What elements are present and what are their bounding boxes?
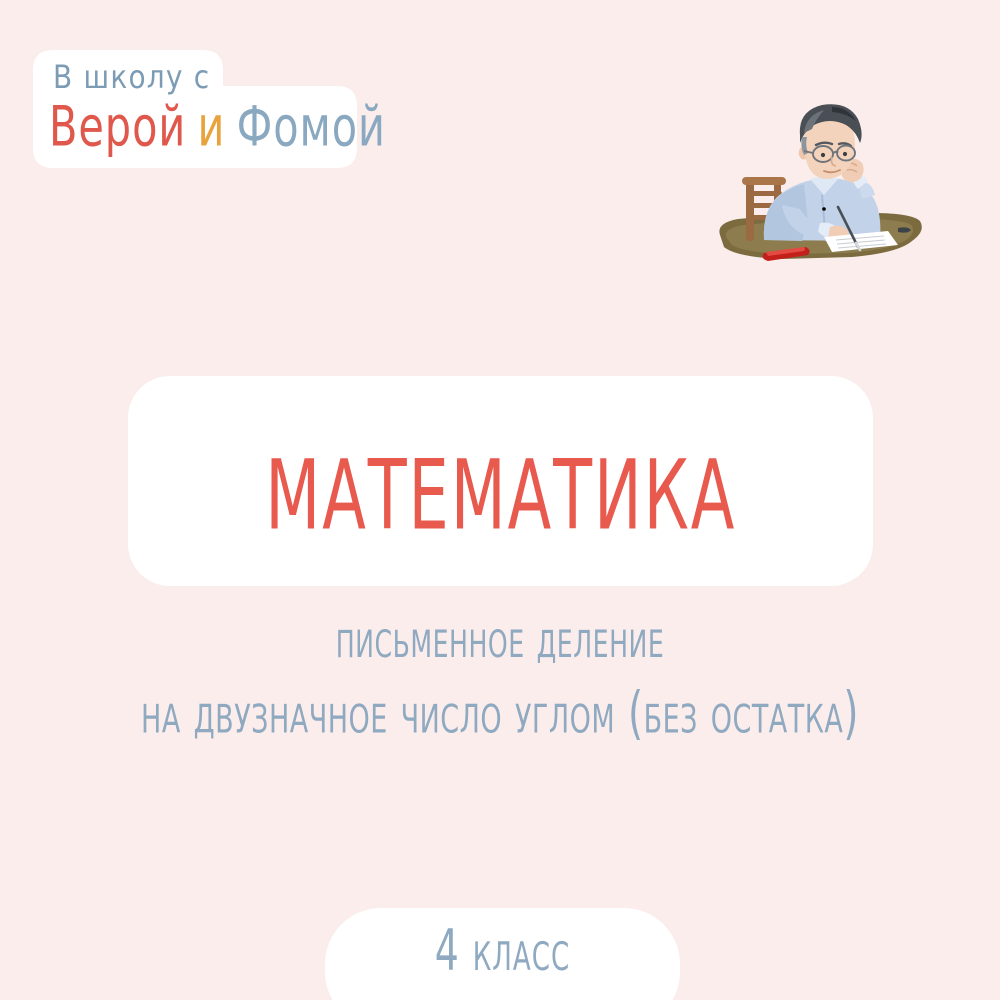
man-writing-at-desk-illustration bbox=[712, 95, 932, 275]
subtitle-line-1: Письменное деление bbox=[0, 614, 1000, 667]
subtitle-line-2: на двузначное число углом (без остатка) bbox=[0, 686, 1000, 743]
brand-word-foma: Фомой bbox=[237, 95, 386, 159]
brand-tagline: В школу с bbox=[53, 58, 210, 96]
brand-word-vera: Верой bbox=[49, 95, 186, 159]
page-title: Математика bbox=[265, 412, 736, 549]
slide-canvas: В школу с ВеройиФомой bbox=[0, 0, 1000, 1000]
illustration-svg bbox=[712, 95, 932, 275]
grade-card: 4 класс bbox=[325, 908, 680, 1000]
grade-label: 4 класс bbox=[435, 917, 570, 983]
subject-title-card: Математика bbox=[128, 376, 873, 586]
brand-word-and: и bbox=[198, 95, 226, 159]
lesson-subtitle: Письменное деление на двузначное число у… bbox=[0, 620, 1000, 769]
brand-logo-sticker[interactable]: В школу с ВеройиФомой bbox=[31, 48, 359, 170]
brand-name: ВеройиФомой bbox=[49, 95, 386, 159]
